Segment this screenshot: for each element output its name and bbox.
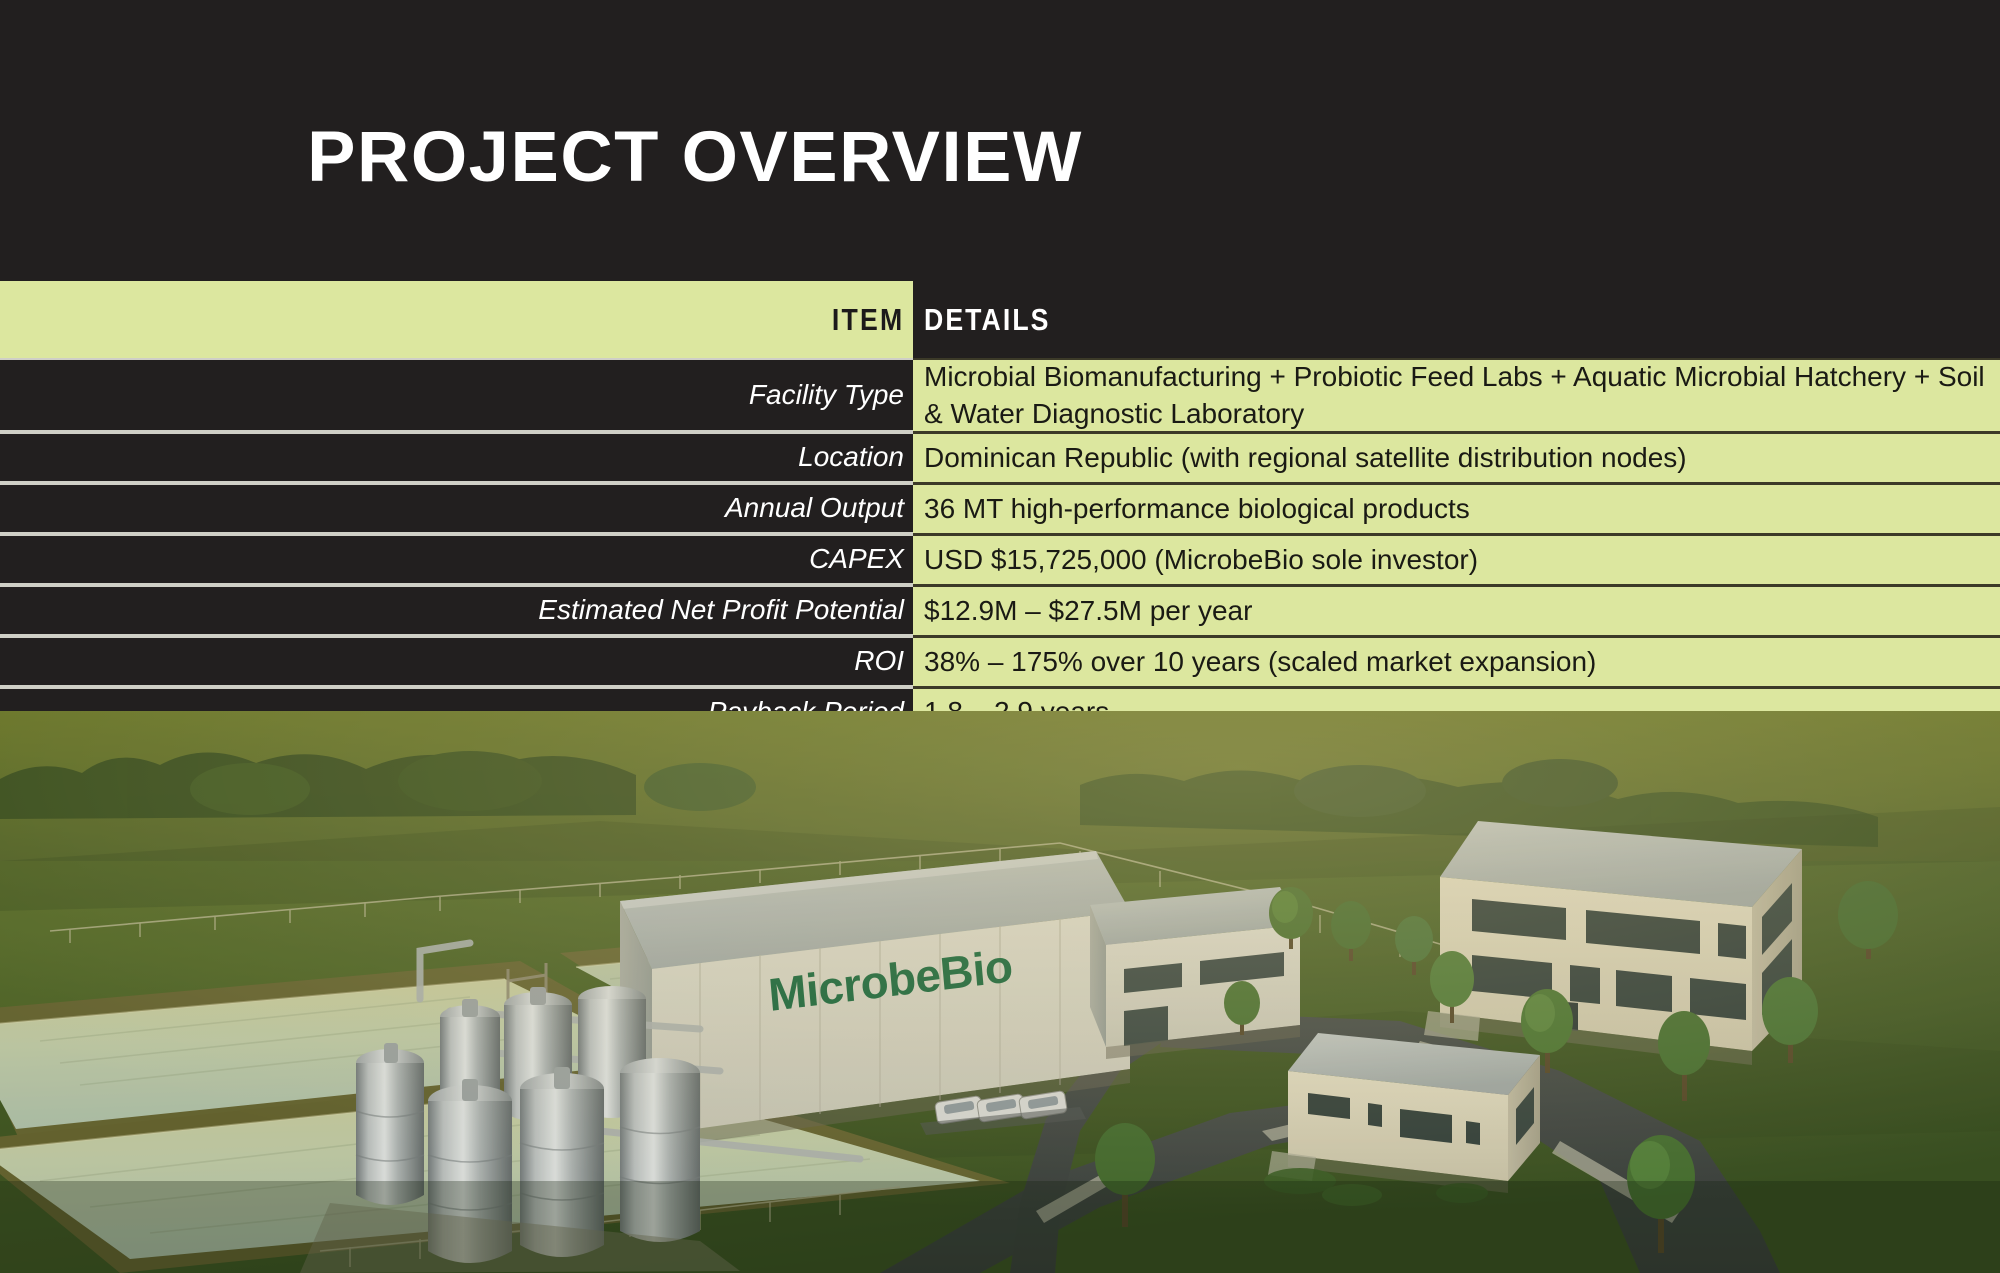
row-value: Dominican Republic (with regional satell… <box>924 440 1687 477</box>
row-value: USD $15,725,000 (MicrobeBio sole investo… <box>924 542 1478 579</box>
row-label-cell: Annual Output <box>0 483 913 534</box>
project-overview-table: ITEM DETAILS Facility Type Microbial Bio… <box>0 281 2000 738</box>
row-value-cell: Dominican Republic (with regional satell… <box>913 432 2000 483</box>
header-label-item: ITEM <box>831 302 904 338</box>
row-label-cell: CAPEX <box>0 534 913 585</box>
row-value: Microbial Biomanufacturing + Probiotic F… <box>924 359 1988 433</box>
row-value-cell: $12.9M – $27.5M per year <box>913 585 2000 636</box>
row-label: CAPEX <box>809 543 904 575</box>
row-value: $12.9M – $27.5M per year <box>924 593 1252 630</box>
table-row: Facility Type Microbial Biomanufacturing… <box>0 358 2000 432</box>
row-label: Estimated Net Profit Potential <box>538 594 904 626</box>
table-row: ROI 38% – 175% over 10 years (scaled mar… <box>0 636 2000 687</box>
row-label: ROI <box>854 645 904 677</box>
row-label-cell: ROI <box>0 636 913 687</box>
row-value: 38% – 175% over 10 years (scaled market … <box>924 644 1596 681</box>
table-row: Estimated Net Profit Potential $12.9M – … <box>0 585 2000 636</box>
row-label: Location <box>798 441 904 473</box>
title-band: PROJECT OVERVIEW <box>0 0 2000 281</box>
row-value: 36 MT high-performance biological produc… <box>924 491 1470 528</box>
row-label: Annual Output <box>725 492 904 524</box>
table-header-row: ITEM DETAILS <box>0 281 2000 358</box>
table-row: Location Dominican Republic (with region… <box>0 432 2000 483</box>
row-value-cell: 38% – 175% over 10 years (scaled market … <box>913 636 2000 687</box>
table-row: CAPEX USD $15,725,000 (MicrobeBio sole i… <box>0 534 2000 585</box>
row-value-cell: 36 MT high-performance biological produc… <box>913 483 2000 534</box>
header-cell-item: ITEM <box>0 281 913 358</box>
row-label-cell: Facility Type <box>0 358 913 432</box>
page-title: PROJECT OVERVIEW <box>0 122 1404 193</box>
table-row: Annual Output 36 MT high-performance bio… <box>0 483 2000 534</box>
header-cell-details: DETAILS <box>913 281 2000 358</box>
row-label-cell: Estimated Net Profit Potential <box>0 585 913 636</box>
facility-illustration: MicrobeBio <box>0 711 2000 1273</box>
row-value-cell: USD $15,725,000 (MicrobeBio sole investo… <box>913 534 2000 585</box>
facility-aerial-photo: MicrobeBio <box>0 711 2000 1273</box>
row-value-cell: Microbial Biomanufacturing + Probiotic F… <box>913 358 2000 432</box>
slide-project-overview: PROJECT OVERVIEW ITEM DETAILS Facility T… <box>0 0 2000 1273</box>
row-label-cell: Location <box>0 432 913 483</box>
row-label: Facility Type <box>749 379 904 411</box>
header-label-details: DETAILS <box>924 302 1051 338</box>
